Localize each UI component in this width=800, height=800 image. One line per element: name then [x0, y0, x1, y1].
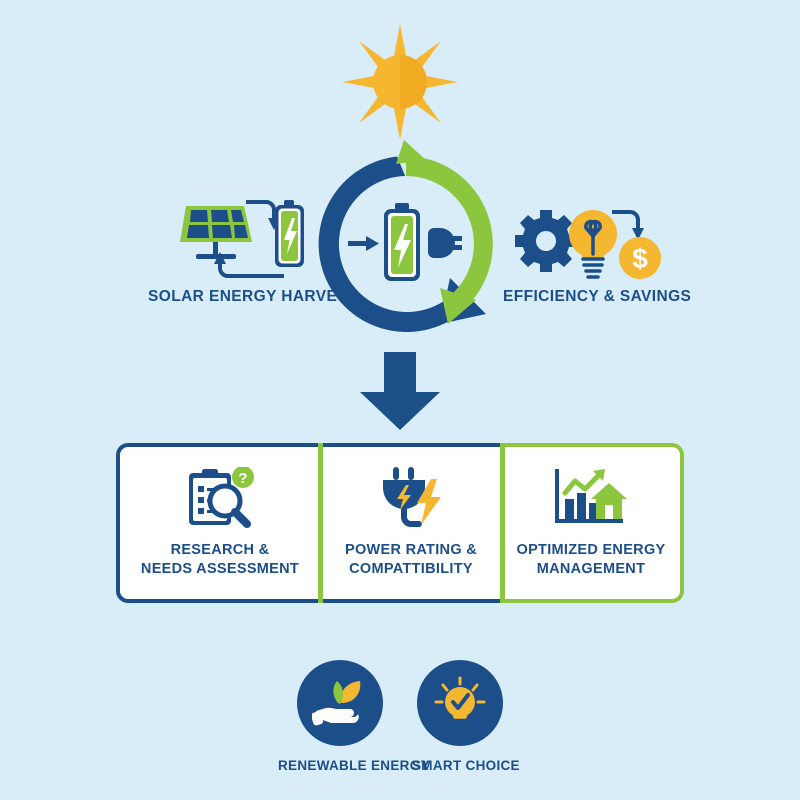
- solar-harvest-label: SOLAR ENERGY HARVEST: [148, 288, 358, 306]
- svg-text:$: $: [632, 243, 648, 274]
- badge-circle: [297, 660, 383, 746]
- house-icon: [591, 483, 627, 519]
- card-research[interactable]: ? RESEARCH & NEEDS ASSESSMENT: [116, 443, 320, 603]
- gear-icon: [515, 210, 577, 272]
- card-optimized-energy[interactable]: OPTIMIZED ENERGY MANAGEMENT: [502, 443, 684, 603]
- solar-harvest-icon-group: [180, 196, 310, 288]
- badge-renewable-energy[interactable]: RENEWABLE ENERGY: [296, 660, 384, 773]
- dollar-coin-icon: $: [619, 237, 661, 279]
- curved-arrow-down-icon: [246, 202, 274, 220]
- hand-leaf-icon: [312, 678, 368, 728]
- battery-icon: [384, 203, 420, 281]
- badge-row: RENEWABLE ENERGY: [240, 660, 560, 780]
- efficiency-savings-label: EFFICIENCY & SAVINGS: [503, 288, 691, 306]
- svg-text:?: ?: [238, 470, 247, 487]
- badge-circle: [417, 660, 503, 746]
- infographic-canvas: $ SOLAR ENERGY HARVEST EFFICIENCY & SAVI…: [0, 0, 800, 800]
- card-divider-2: [500, 443, 505, 603]
- lightbulb-icon: [569, 210, 617, 277]
- solar-panel-icon: [180, 206, 252, 259]
- card-power-rating[interactable]: POWER RATING & COMPATTIBILITY: [320, 443, 502, 603]
- input-arrow-icon: [348, 236, 379, 251]
- lightbulb-check-icon: [433, 676, 487, 730]
- clipboard-magnifier-question-icon: ?: [181, 467, 259, 529]
- question-badge-icon: ?: [232, 467, 254, 488]
- process-card-row: ? RESEARCH & NEEDS ASSESSMENT: [116, 443, 684, 603]
- card-divider-1: [318, 443, 323, 603]
- plug-icon: [428, 228, 462, 258]
- chart-bars: [565, 493, 598, 519]
- badge-renewable-energy-label: RENEWABLE ENERGY: [278, 758, 384, 773]
- card-research-label: RESEARCH & NEEDS ASSESSMENT: [141, 541, 299, 579]
- plug-bolt-icon: [375, 467, 447, 529]
- badge-smart-choice[interactable]: SMART CHOICE: [416, 660, 504, 773]
- battery-charging-group: [348, 196, 468, 292]
- card-power-rating-label: POWER RATING & COMPATTIBILITY: [345, 541, 477, 579]
- down-arrow-icon: [356, 352, 444, 430]
- curved-arrow-up-icon: [220, 262, 284, 276]
- card-optimized-energy-label: OPTIMIZED ENERGY MANAGEMENT: [516, 541, 665, 579]
- sun-icon: [340, 22, 460, 142]
- trend-arrow-icon: [565, 473, 601, 493]
- efficiency-savings-icon-group: $: [500, 196, 666, 288]
- bar-chart-house-icon: [551, 467, 631, 529]
- badge-smart-choice-label: SMART CHOICE: [412, 758, 504, 773]
- battery-icon: [275, 200, 304, 267]
